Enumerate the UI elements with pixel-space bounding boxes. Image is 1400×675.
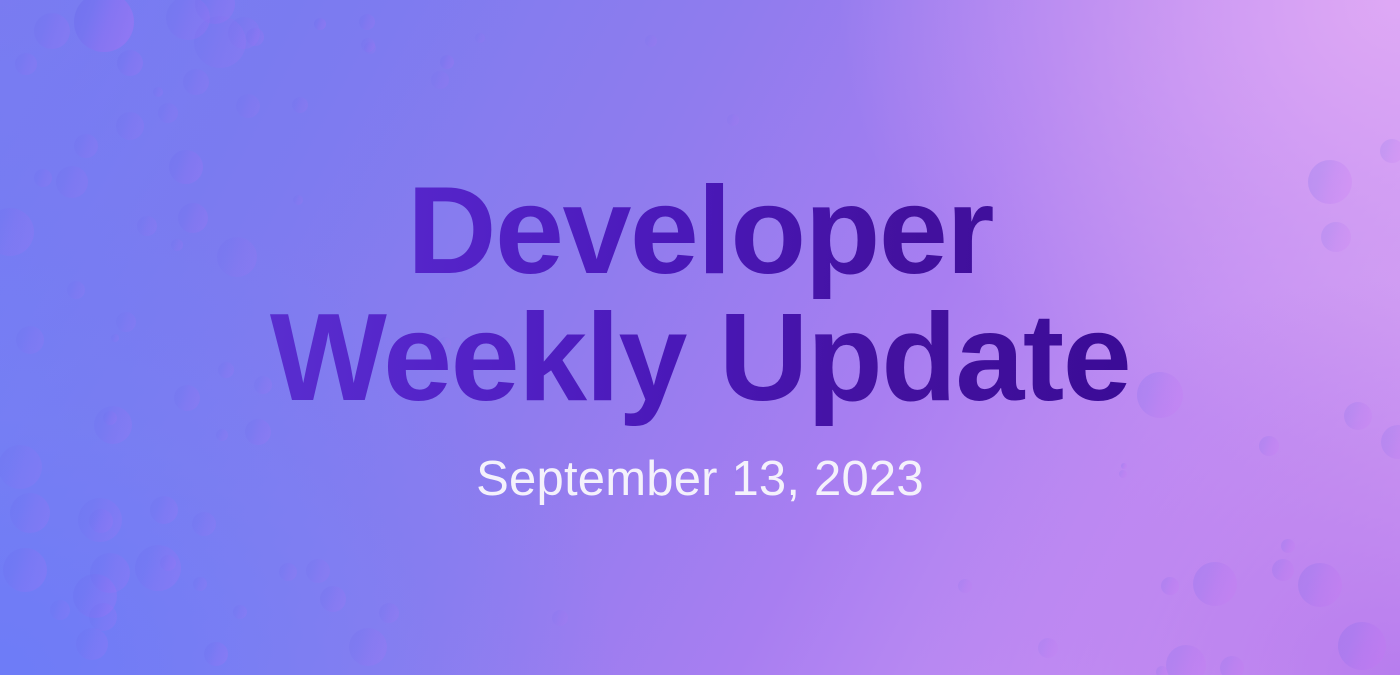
issue-date: September 13, 2023	[476, 453, 924, 507]
headline-line-2: Weekly Update	[270, 295, 1130, 421]
page-title: Developer Weekly Update	[260, 168, 1140, 427]
developer-weekly-update-banner: Developer Weekly Update September 13, 20…	[0, 0, 1400, 675]
headline-line-1: Developer	[270, 168, 1130, 294]
banner-content: Developer Weekly Update September 13, 20…	[0, 0, 1400, 675]
